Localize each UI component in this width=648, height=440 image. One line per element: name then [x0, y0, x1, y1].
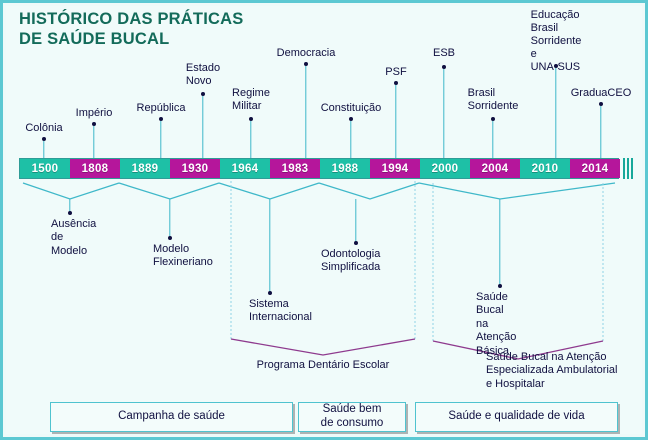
event-stem	[600, 106, 601, 158]
model-label: Modelo Flexineriano	[153, 243, 213, 270]
timeline-segment[interactable]: 2014	[570, 159, 620, 178]
event-label: PSF	[385, 66, 406, 79]
event-stem	[250, 121, 251, 158]
model-label: Ausência de Modelo	[51, 218, 96, 258]
category-box-saude-bem-de-consumo[interactable]: Saúde bem de consumo	[298, 402, 406, 432]
program-label-atencao-especializada: Saúde Bucal na Atenção Especializada Amb…	[486, 351, 617, 391]
model-dot	[354, 241, 358, 245]
model-dot	[168, 236, 172, 240]
event-label: Constituição	[321, 102, 382, 115]
event-label: Estado Novo	[186, 62, 220, 88]
event-stem	[160, 121, 161, 158]
timeline-segment[interactable]: 1808	[70, 159, 120, 178]
event-stem	[93, 126, 94, 158]
timeline-segment[interactable]: 1889	[120, 159, 170, 178]
event-stem	[492, 121, 493, 158]
program-label-dentario-escolar: Programa Dentário Escolar	[257, 359, 390, 372]
event-stem	[443, 69, 444, 158]
model-stem	[355, 199, 356, 242]
page-title: HISTÓRICO DAS PRÁTICAS DE SAÚDE BUCAL	[19, 9, 243, 49]
event-label: Democracia	[277, 47, 336, 60]
model-stem	[499, 199, 500, 285]
event-stem	[555, 68, 556, 158]
event-stem	[202, 96, 203, 158]
event-label: Brasil Sorridente	[468, 87, 519, 113]
timeline-bar[interactable]: 1500 1808 1889 1930 1964 1983 1988 1994 …	[19, 158, 619, 179]
event-label: Colônia	[25, 122, 62, 135]
event-stem	[305, 66, 306, 158]
model-dot	[498, 284, 502, 288]
model-label: Sistema Internacional	[249, 298, 312, 325]
timeline-segment[interactable]: 1994	[370, 159, 420, 178]
category-box-saude-qualidade-de-vida[interactable]: Saúde e qualidade de vida	[415, 402, 618, 432]
event-label: Império	[76, 107, 113, 120]
timeline-end-marker	[623, 158, 637, 179]
event-label: ESB	[433, 47, 455, 60]
timeline-segment[interactable]: 1930	[170, 159, 220, 178]
model-dot	[68, 211, 72, 215]
timeline-segment[interactable]: 1983	[270, 159, 320, 178]
event-stem	[350, 121, 351, 158]
event-stem	[43, 141, 44, 158]
timeline-segment[interactable]: 1500	[20, 159, 70, 178]
event-label: República	[137, 102, 186, 115]
category-box-campanha-de-saude[interactable]: Campanha de saúde	[50, 402, 293, 432]
model-label: Odontologia Simplificada	[321, 248, 380, 275]
model-label: Saúde Bucal na Atenção Básica	[476, 291, 516, 358]
model-stem	[169, 199, 170, 237]
timeline-segment[interactable]: 1964	[220, 159, 270, 178]
timeline-segment[interactable]: 2010	[520, 159, 570, 178]
timeline-segment[interactable]: 2000	[420, 159, 470, 178]
event-label: Regime Militar	[232, 87, 270, 113]
model-stem	[269, 199, 270, 292]
timeline-segment[interactable]: 2004	[470, 159, 520, 178]
event-stem	[395, 85, 396, 158]
model-dot	[268, 291, 272, 295]
timeline-segment[interactable]: 1988	[320, 159, 370, 178]
infographic-frame: HISTÓRICO DAS PRÁTICAS DE SAÚDE BUCAL 15…	[0, 0, 648, 440]
event-label: GraduaCEO	[571, 87, 632, 100]
